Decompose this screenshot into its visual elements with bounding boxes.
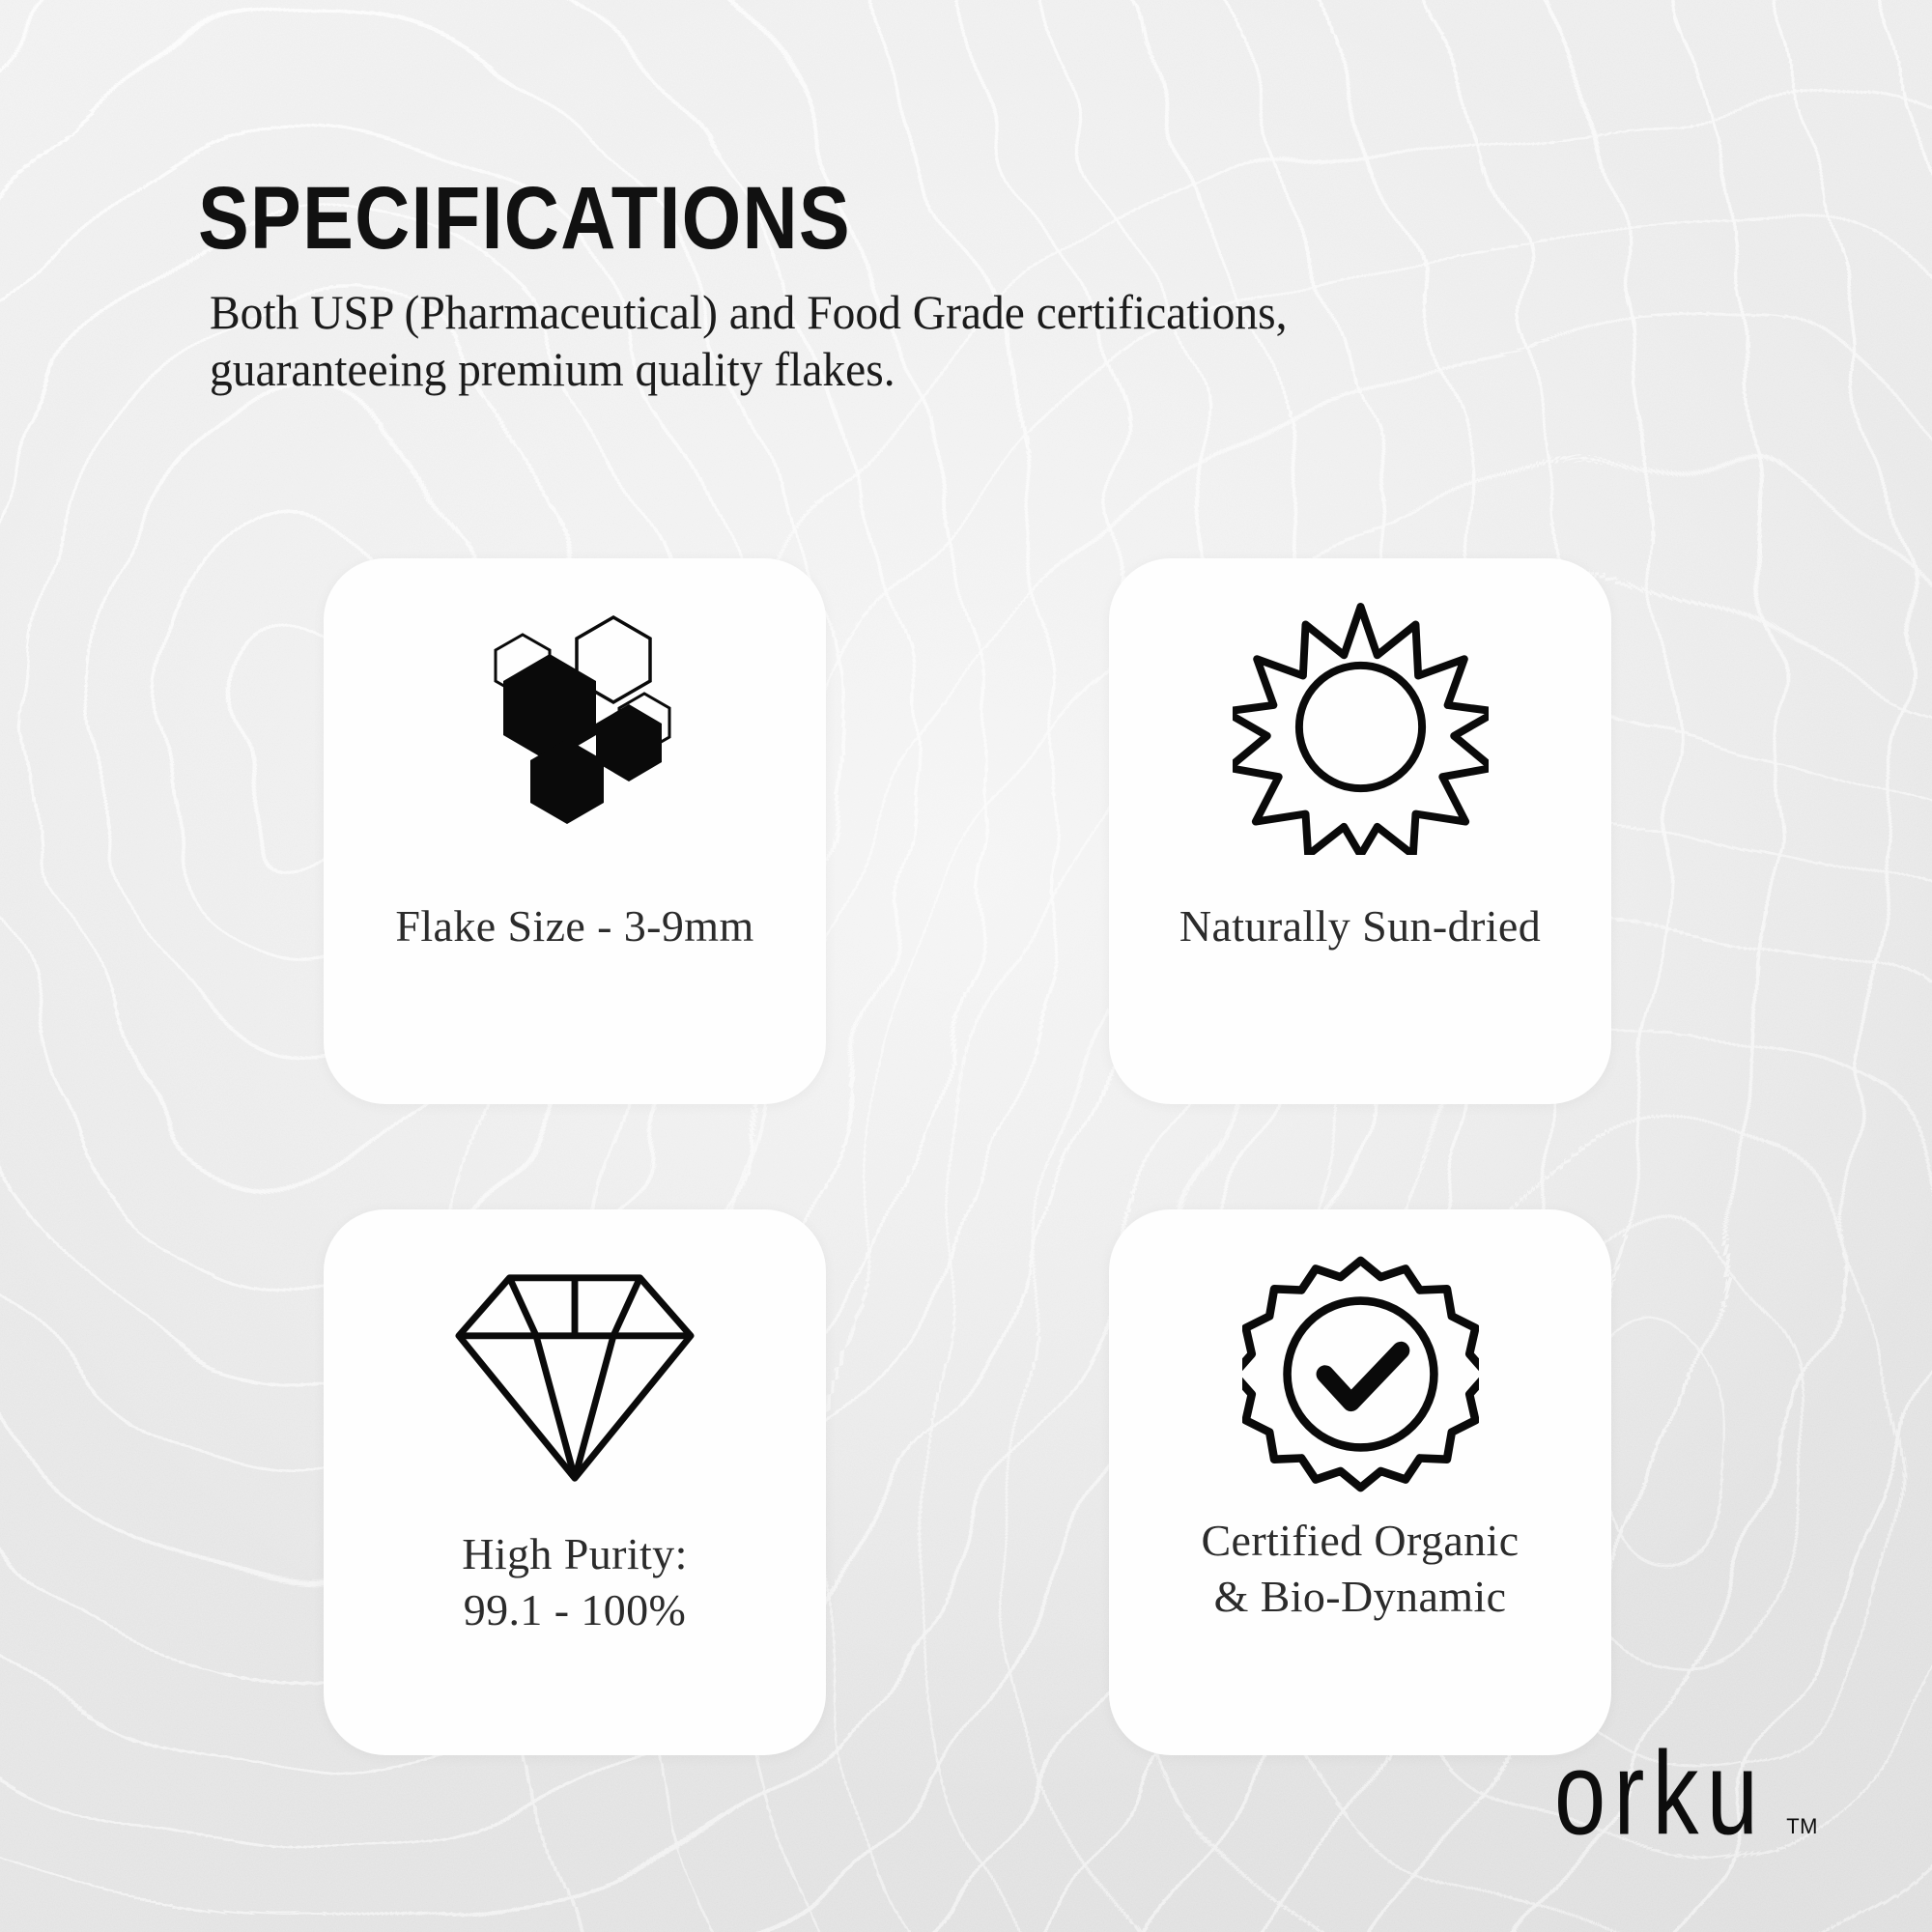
card-label: High Purity: 99.1 - 100%	[437, 1526, 713, 1638]
card-label-line-1: Naturally Sun-dried	[1179, 898, 1541, 954]
subtitle-line-1: Both USP (Pharmaceutical) and Food Grade…	[210, 285, 1288, 339]
brand-name: orku	[1554, 1743, 1766, 1849]
spec-card-flake-size[interactable]: Flake Size - 3-9mm	[324, 558, 826, 1104]
card-label-line-1: High Purity:	[462, 1526, 688, 1582]
page-subtitle: Both USP (Pharmaceutical) and Food Grade…	[210, 284, 1605, 397]
card-label-line-1: Flake Size - 3-9mm	[395, 898, 753, 954]
spec-card-certified-organic[interactable]: Certified Organic & Bio-Dynamic	[1109, 1209, 1611, 1755]
subtitle-line-2: guaranteeing premium quality flakes.	[210, 342, 895, 396]
certified-badge-check-icon	[1242, 1256, 1479, 1492]
icon-container	[1109, 1209, 1611, 1499]
card-label-line-2: 99.1 - 100%	[462, 1582, 688, 1638]
card-label: Flake Size - 3-9mm	[370, 898, 779, 954]
spec-card-sun-dried[interactable]: Naturally Sun-dried	[1109, 558, 1611, 1104]
card-label: Certified Organic & Bio-Dynamic	[1176, 1513, 1544, 1625]
diamond-icon	[454, 1260, 696, 1492]
card-label-line-2: & Bio-Dynamic	[1201, 1569, 1519, 1625]
spec-card-high-purity[interactable]: High Purity: 99.1 - 100%	[324, 1209, 826, 1755]
icon-container	[1109, 558, 1611, 877]
brand-logo: orku TM	[1554, 1758, 1818, 1849]
header: SPECIFICATIONS Both USP (Pharmaceutical)…	[198, 174, 1705, 397]
icon-container	[324, 558, 826, 877]
icon-container	[324, 1209, 826, 1509]
hexagon-flakes-icon	[449, 615, 700, 838]
card-label-line-1: Certified Organic	[1201, 1513, 1519, 1569]
card-label: Naturally Sun-dried	[1154, 898, 1566, 954]
trademark-symbol: TM	[1786, 1814, 1818, 1839]
page-title: SPECIFICATIONS	[198, 174, 1494, 263]
sun-icon	[1233, 599, 1489, 855]
